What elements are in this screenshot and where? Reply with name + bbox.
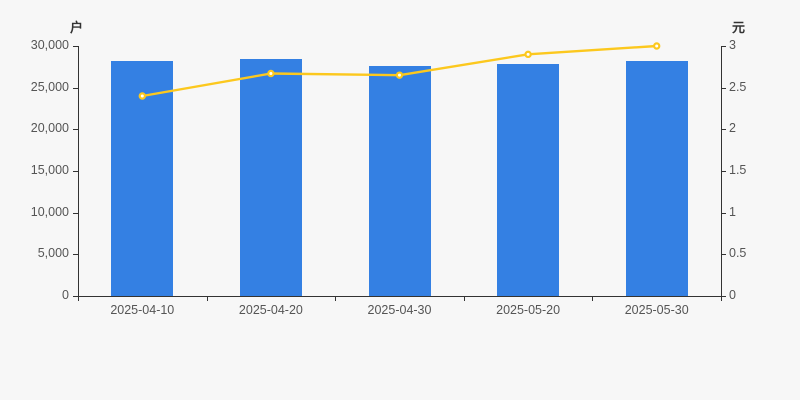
bar[interactable] (111, 61, 173, 296)
x-axis-line (78, 296, 722, 297)
right-axis-tick-label: 2 (729, 122, 736, 135)
x-axis-tick-label: 2025-05-30 (625, 303, 689, 318)
x-axis-tick-mark (592, 296, 593, 301)
left-axis-tick-mark (73, 171, 78, 172)
bar[interactable] (497, 64, 559, 297)
right-axis-tick-label: 2.5 (729, 81, 746, 94)
right-axis-tick-mark (721, 254, 726, 255)
x-axis-tick-mark (464, 296, 465, 301)
chart-container: 户 元 05,00010,00015,00020,00025,00030,000… (0, 0, 800, 400)
right-axis-tick-mark (721, 88, 726, 89)
left-axis-tick-mark (73, 213, 78, 214)
right-axis-tick-mark (721, 129, 726, 130)
right-axis-tick-mark (721, 46, 726, 47)
right-axis-tick-label: 0.5 (729, 247, 746, 260)
left-axis-tick-mark (73, 46, 78, 47)
left-axis-tick-label: 30,000 (31, 39, 69, 52)
x-axis-tick-label: 2025-05-20 (496, 303, 560, 318)
left-axis-tick-mark (73, 129, 78, 130)
left-axis-tick-label: 20,000 (31, 122, 69, 135)
left-axis-unit-label: 户 (70, 17, 83, 36)
right-axis-unit-label: 元 (732, 17, 745, 36)
left-axis-tick-label: 0 (62, 289, 69, 302)
right-axis-tick-label: 0 (729, 289, 736, 302)
right-axis-tick-mark (721, 171, 726, 172)
left-axis-tick-mark (73, 254, 78, 255)
left-axis-tick-label: 10,000 (31, 206, 69, 219)
bar[interactable] (626, 61, 688, 296)
x-axis-tick-label: 2025-04-10 (110, 303, 174, 318)
bar[interactable] (240, 59, 302, 297)
x-axis-tick-label: 2025-04-30 (368, 303, 432, 318)
line-marker[interactable] (526, 52, 531, 57)
right-axis-tick-label: 1.5 (729, 164, 746, 177)
x-axis-tick-mark (721, 296, 722, 301)
bar[interactable] (369, 66, 431, 296)
x-axis-tick-mark (207, 296, 208, 301)
line-marker[interactable] (654, 43, 659, 48)
left-axis-tick-mark (73, 88, 78, 89)
left-axis-tick-label: 5,000 (38, 247, 69, 260)
x-axis-tick-mark (335, 296, 336, 301)
right-axis-tick-label: 1 (729, 206, 736, 219)
left-axis-tick-label: 25,000 (31, 81, 69, 94)
x-axis-tick-mark (78, 296, 79, 301)
left-axis-line (78, 46, 79, 297)
right-axis-tick-mark (721, 213, 726, 214)
right-axis-tick-label: 3 (729, 39, 736, 52)
x-axis-tick-label: 2025-04-20 (239, 303, 303, 318)
left-axis-tick-label: 15,000 (31, 164, 69, 177)
